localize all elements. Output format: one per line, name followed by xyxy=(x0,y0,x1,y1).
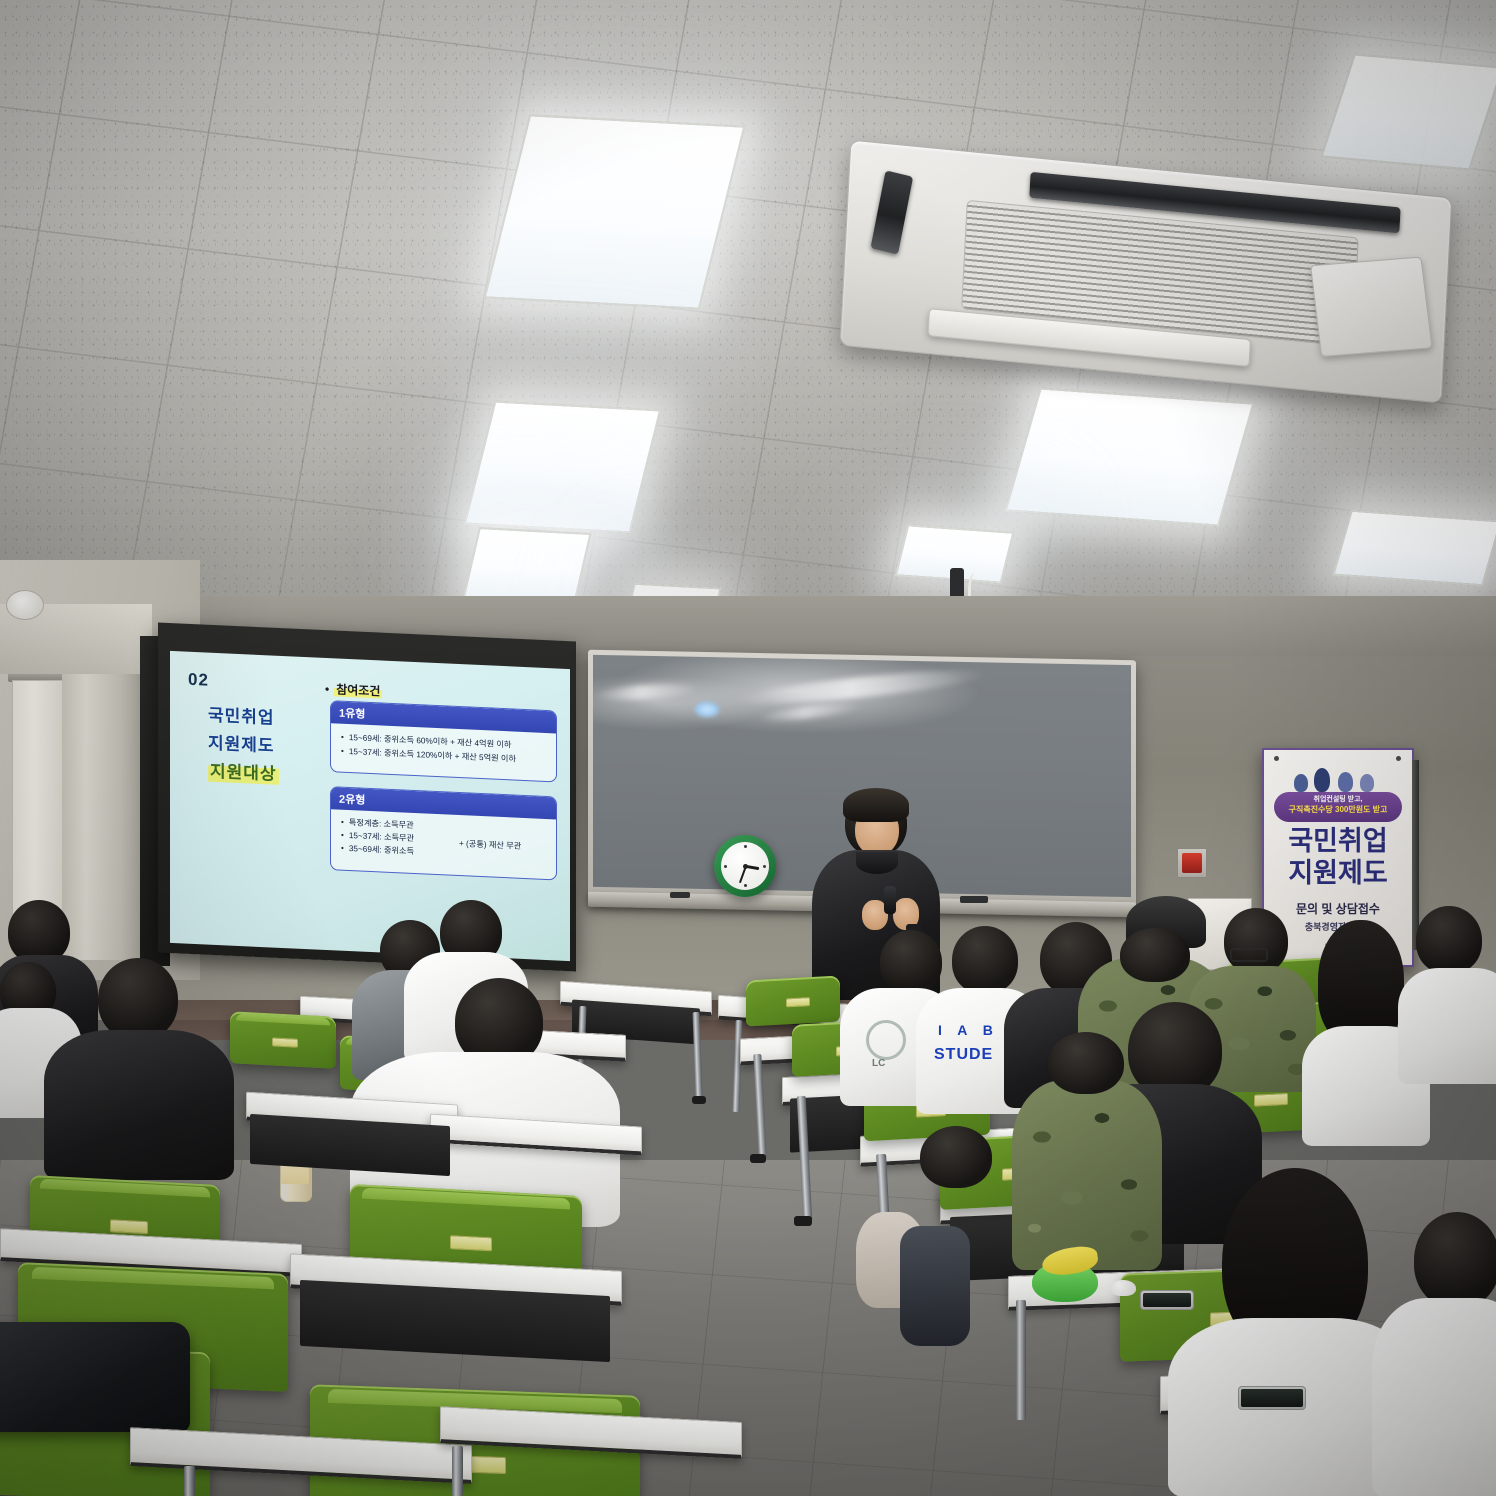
presentation-slide: 02 국민취업 지원제도 지원대상 •참여조건 1유형 15~69세: 중위소득… xyxy=(170,651,570,961)
audience-head xyxy=(1414,1212,1496,1308)
banner-grommet-right xyxy=(1396,756,1401,761)
slide-title-line2: 지원제도 xyxy=(208,729,275,757)
clock-tick xyxy=(744,884,747,887)
audience-torso xyxy=(1372,1298,1496,1496)
chair-label xyxy=(110,1219,148,1234)
chair xyxy=(230,1011,336,1069)
banner-figure-3 xyxy=(1338,772,1353,792)
chair-label xyxy=(786,997,810,1007)
banner-figure-4 xyxy=(1360,774,1374,792)
banner-figures xyxy=(1290,766,1386,792)
slide-number: 02 xyxy=(188,670,209,691)
glasses-icon xyxy=(1230,948,1268,962)
whiteboard-marker xyxy=(670,892,690,898)
shirt-print-line1: I A B xyxy=(938,1022,999,1038)
audience-torso xyxy=(44,1030,234,1180)
banner-pole xyxy=(1412,760,1419,950)
shirt-logo-circle xyxy=(866,1020,906,1060)
audience-head xyxy=(1048,1032,1124,1094)
slide-title-line1: 국민취업 xyxy=(208,701,275,729)
audience-head xyxy=(880,930,942,994)
clock-tick xyxy=(744,845,747,848)
slide-bullet-heading: 참여조건 xyxy=(334,682,382,698)
chair-label xyxy=(272,1037,298,1047)
microphone xyxy=(884,886,896,914)
chair-label xyxy=(450,1235,492,1251)
audience-head xyxy=(952,926,1018,994)
banner-figure-1 xyxy=(1294,774,1308,792)
wall-speaker-icon xyxy=(6,590,44,620)
ceiling-light-1 xyxy=(483,114,745,309)
ac-flap-right xyxy=(1310,256,1433,356)
presenter-collar xyxy=(856,852,898,874)
banner-pill: 취업컨설팅 받고, 구직촉진수당 300만원도 받고 xyxy=(1274,792,1402,822)
phone-screen xyxy=(1241,1389,1303,1407)
clock-tick xyxy=(763,865,766,868)
ceiling-light-2 xyxy=(464,401,662,534)
smartphone xyxy=(1140,1290,1194,1310)
slide-bullet-heading-wrap: •참여조건 xyxy=(325,680,382,700)
shirt-print-line2: STUDE xyxy=(934,1046,993,1064)
whiteboard-eraser xyxy=(960,896,988,903)
slide-type2-box: 2유형 특정계층: 소득무관 15~37세: 소득무관 35~69세: 중위소득… xyxy=(330,786,557,880)
audience-head xyxy=(98,958,178,1040)
audience-head xyxy=(1416,906,1482,974)
clock-center-pin xyxy=(743,864,748,869)
banner-figure-2 xyxy=(1314,768,1330,792)
desk-leg xyxy=(753,1054,766,1158)
banner-title-line1: 국민취업 xyxy=(1264,828,1412,856)
slide-type2-body: 특정계층: 소득무관 15~37세: 소득무관 35~69세: 중위소득 + (… xyxy=(331,809,556,871)
slide-title-line3-wrap: 지원대상 xyxy=(208,757,279,785)
desk-leg xyxy=(1016,1300,1026,1420)
desk-leg xyxy=(452,1446,463,1496)
desk-leg xyxy=(184,1466,195,1496)
desk-foot xyxy=(692,1096,706,1104)
phone-screen xyxy=(1143,1293,1191,1307)
ceiling-light-3 xyxy=(462,527,591,605)
audience-torso-camouflage-near xyxy=(1012,1080,1162,1270)
banner-pill-line2: 구직촉진수당 300만원도 받고 xyxy=(1274,804,1402,815)
desk-foot xyxy=(750,1154,766,1163)
slide-title-line3: 지원대상 xyxy=(208,757,279,785)
chair-lip xyxy=(236,1014,330,1026)
whiteboard-blue-dot xyxy=(695,702,719,717)
smartphone xyxy=(1238,1386,1306,1410)
banner-title-line2: 지원제도 xyxy=(1264,860,1412,888)
audience-torso xyxy=(1398,968,1496,1084)
audience-head xyxy=(1224,908,1288,974)
fire-extinguisher-icon xyxy=(1182,853,1202,873)
fire-extinguisher-sign xyxy=(1177,848,1207,878)
wall-clock xyxy=(714,835,776,897)
ceiling-light-4 xyxy=(1004,387,1254,526)
desk-foot xyxy=(794,1216,812,1226)
banner-sub-line1: 문의 및 상담접수 xyxy=(1264,900,1412,917)
presenter-hair xyxy=(843,788,909,822)
wall-pillar xyxy=(62,630,140,960)
audience-head xyxy=(1120,928,1190,982)
shirt-logo-text: LC xyxy=(872,1058,885,1069)
clock-tick xyxy=(724,865,727,868)
slide-type2-common-note: + (공통) 재산 무관 xyxy=(459,837,521,853)
audience-leg xyxy=(900,1226,970,1346)
classroom-scene: 02 국민취업 지원제도 지원대상 •참여조건 1유형 15~69세: 중위소득… xyxy=(0,0,1496,1496)
ceiling-light-5 xyxy=(1332,510,1496,587)
chair-label xyxy=(1254,1093,1288,1107)
banner-grommet-left xyxy=(1274,756,1279,761)
banner-pill-line1: 취업컨설팅 받고, xyxy=(1274,794,1402,804)
ac-louver-left xyxy=(870,170,913,254)
earbuds xyxy=(1110,1280,1136,1296)
backpack xyxy=(0,1322,190,1432)
chair xyxy=(746,976,840,1027)
clock-face xyxy=(721,842,769,890)
audience-head xyxy=(920,1126,992,1188)
slide-type1-box: 1유형 15~69세: 중위소득 60%이하 + 재산 4억원 이하 15~37… xyxy=(330,700,557,782)
